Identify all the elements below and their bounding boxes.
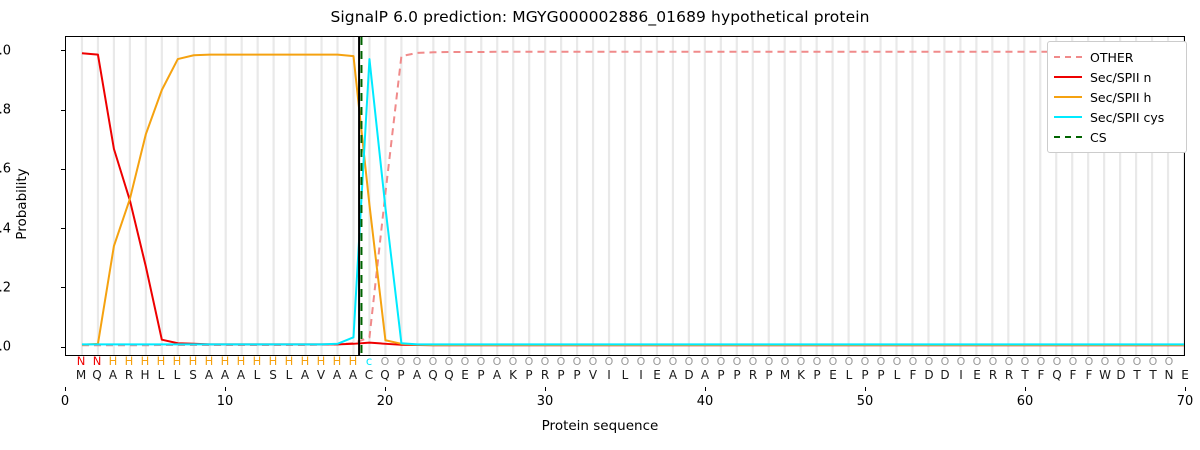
annotation-char: O [1069, 354, 1078, 369]
annotation-char: O [813, 354, 822, 369]
annotation-char: H [253, 354, 262, 369]
annotation-char: H [157, 354, 166, 369]
residue-char: D [1116, 368, 1125, 383]
residue-char: P [877, 368, 884, 383]
residue-char: Q [380, 368, 389, 383]
residue-char: S [189, 368, 197, 383]
plot-area [65, 36, 1185, 356]
y-tick-label: 0.0 [0, 340, 11, 355]
x-axis-label: Protein sequence [0, 418, 1200, 434]
annotation-char: O [653, 354, 662, 369]
residue-char: P [557, 368, 564, 383]
residue-char: F [1086, 368, 1093, 383]
x-tick-mark [385, 387, 386, 391]
annotation-char: O [1053, 354, 1062, 369]
legend-label: Sec/SPII h [1090, 90, 1151, 105]
x-tick-mark [65, 387, 66, 391]
residue-char: A [493, 368, 501, 383]
legend-item-cs[interactable]: CS [1054, 127, 1179, 147]
annotation-char: O [1085, 354, 1094, 369]
annotation-char: H [301, 354, 310, 369]
residue-char: R [125, 368, 133, 383]
legend-item-other[interactable]: OTHER [1054, 47, 1179, 67]
annotation-char: O [733, 354, 742, 369]
annotation-char: H [109, 354, 118, 369]
annotation-char: O [589, 354, 598, 369]
residue-char: E [1181, 368, 1189, 383]
y-axis-label: Probability [14, 84, 30, 324]
residue-char: E [973, 368, 981, 383]
annotation-char: O [397, 354, 406, 369]
residue-char: D [684, 368, 693, 383]
residue-char: A [701, 368, 709, 383]
annotation-char: O [845, 354, 854, 369]
residue-char: P [861, 368, 868, 383]
residue-char: A [205, 368, 213, 383]
annotation-char: O [621, 354, 630, 369]
x-tick-label: 10 [217, 394, 234, 409]
residue-char: R [541, 368, 549, 383]
annotation-char: O [461, 354, 470, 369]
annotation-char: H [205, 354, 214, 369]
plot-canvas [66, 37, 1184, 355]
residue-char: S [269, 368, 277, 383]
legend-label: CS [1090, 130, 1107, 145]
residue-char: A [333, 368, 341, 383]
annotation-char: O [445, 354, 454, 369]
annotation-char: O [685, 354, 694, 369]
annotation-char: O [637, 354, 646, 369]
annotation-char: H [125, 354, 134, 369]
annotation-char: N [93, 354, 102, 369]
residue-char: P [573, 368, 580, 383]
annotation-char: O [413, 354, 422, 369]
x-tick-label: 50 [857, 394, 874, 409]
residue-char: V [589, 368, 597, 383]
residue-char: C [365, 368, 373, 383]
legend-swatch-icon [1054, 51, 1082, 63]
annotation-char: O [893, 354, 902, 369]
annotation-char: O [941, 354, 950, 369]
legend: OTHERSec/SPII nSec/SPII hSec/SPII cysCS [1047, 41, 1187, 153]
residue-char: A [301, 368, 309, 383]
residue-char: E [461, 368, 469, 383]
residue-char: L [846, 368, 853, 383]
annotation-char: H [333, 354, 342, 369]
annotation-char: O [509, 354, 518, 369]
annotation-char: O [557, 354, 566, 369]
series-sec-spii-cys [82, 59, 1184, 344]
residue-char: P [813, 368, 820, 383]
residue-char: K [509, 368, 517, 383]
annotation-char: O [765, 354, 774, 369]
y-tick-mark [61, 228, 65, 229]
annotation-char: O [1117, 354, 1126, 369]
annotation-char: O [861, 354, 870, 369]
residue-char: A [349, 368, 357, 383]
x-tick-label: 60 [1017, 394, 1034, 409]
residue-char: L [174, 368, 181, 383]
annotation-char: O [781, 354, 790, 369]
annotation-char: O [973, 354, 982, 369]
annotation-char: O [381, 354, 390, 369]
page-title: SignalP 6.0 prediction: MGYG000002886_01… [0, 8, 1200, 26]
annotation-char: O [877, 354, 886, 369]
residue-char: L [286, 368, 293, 383]
sequence-row: MQARHLLSAAALSLAVAACQPAQQEPAKPRPPVILIEADA… [0, 368, 1200, 383]
residue-char: I [959, 368, 963, 383]
x-tick-mark [1185, 387, 1186, 391]
series-other [82, 52, 1184, 346]
annotation-char: H [221, 354, 230, 369]
annotation-char: O [989, 354, 998, 369]
residue-char: E [653, 368, 661, 383]
annotation-char: H [285, 354, 294, 369]
residue-char: M [780, 368, 790, 383]
residue-char: N [1165, 368, 1174, 383]
annotation-char: O [957, 354, 966, 369]
annotation-char: O [573, 354, 582, 369]
residue-char: A [413, 368, 421, 383]
x-tick-label: 30 [537, 394, 554, 409]
y-tick-mark [61, 110, 65, 111]
legend-item-sec-spii-cys[interactable]: Sec/SPII cys [1054, 107, 1179, 127]
residue-char: M [76, 368, 86, 383]
residue-char: A [237, 368, 245, 383]
annotation-char: O [909, 354, 918, 369]
residue-char: P [525, 368, 532, 383]
annotation-char: O [541, 354, 550, 369]
residue-char: I [607, 368, 611, 383]
annotation-char: O [829, 354, 838, 369]
y-tick-label: 0.6 [0, 162, 11, 177]
residue-char: Q [92, 368, 101, 383]
x-tick-mark [1025, 387, 1026, 391]
residue-char: H [140, 368, 149, 383]
y-tick-label: 0.2 [0, 280, 11, 295]
legend-item-sec-spii-h[interactable]: Sec/SPII h [1054, 87, 1179, 107]
annotation-char: H [237, 354, 246, 369]
annotation-char: O [1005, 354, 1014, 369]
residue-char: P [765, 368, 772, 383]
residue-char: P [397, 368, 404, 383]
residue-char: L [254, 368, 261, 383]
residue-char: T [1149, 368, 1156, 383]
annotation-char: O [1165, 354, 1174, 369]
legend-label: Sec/SPII n [1090, 70, 1151, 85]
legend-swatch-icon [1054, 71, 1082, 83]
grid-lines [82, 37, 1184, 355]
residue-char: E [829, 368, 837, 383]
y-tick-mark [61, 347, 65, 348]
x-tick-mark [545, 387, 546, 391]
annotation-char: O [701, 354, 710, 369]
residue-char: T [1133, 368, 1140, 383]
annotation-char: H [349, 354, 358, 369]
x-tick-label: 70 [1177, 394, 1194, 409]
annotation-char: O [925, 354, 934, 369]
y-tick-mark [61, 287, 65, 288]
annotation-char: O [525, 354, 534, 369]
annotation-char: O [429, 354, 438, 369]
legend-label: OTHER [1090, 50, 1133, 65]
residue-char: I [639, 368, 643, 383]
residue-char: P [477, 368, 484, 383]
annotation-char: O [1021, 354, 1030, 369]
residue-char: R [1005, 368, 1013, 383]
residue-char: L [894, 368, 901, 383]
series-sec-spii-n [82, 53, 1184, 345]
residue-char: P [717, 368, 724, 383]
x-tick-label: 40 [697, 394, 714, 409]
residue-char: K [797, 368, 805, 383]
residue-char: W [1099, 368, 1111, 383]
legend-item-sec-spii-n[interactable]: Sec/SPII n [1054, 67, 1179, 87]
y-tick-mark [61, 50, 65, 51]
residue-char: D [940, 368, 949, 383]
series-sec-spii-h [82, 55, 1184, 345]
legend-swatch-icon [1054, 131, 1082, 143]
x-tick-mark [865, 387, 866, 391]
annotation-char: N [77, 354, 86, 369]
legend-label: Sec/SPII cys [1090, 110, 1164, 125]
residue-char: F [910, 368, 917, 383]
x-tick-label: 0 [61, 394, 69, 409]
residue-char: V [317, 368, 325, 383]
residue-char: R [989, 368, 997, 383]
residue-char: P [733, 368, 740, 383]
residue-char: L [622, 368, 629, 383]
annotation-char: H [141, 354, 150, 369]
annotation-char: O [669, 354, 678, 369]
legend-swatch-icon [1054, 111, 1082, 123]
y-tick-label: 1.0 [0, 43, 11, 58]
residue-char: D [924, 368, 933, 383]
annotation-char: O [1133, 354, 1142, 369]
x-tick-mark [705, 387, 706, 391]
residue-char: T [1021, 368, 1028, 383]
annotation-char: O [477, 354, 486, 369]
residue-char: A [109, 368, 117, 383]
residue-char: A [669, 368, 677, 383]
annotation-char: O [749, 354, 758, 369]
x-tick-mark [225, 387, 226, 391]
annotation-row: NNHHHHHHHHHHHHHHHHcOOOOOOOOOOOOOOOOOOOOO… [0, 354, 1200, 369]
annotation-char: O [1149, 354, 1158, 369]
x-tick-label: 20 [377, 394, 394, 409]
residue-char: Q [428, 368, 437, 383]
residue-char: A [221, 368, 229, 383]
annotation-char: O [493, 354, 502, 369]
signalp-prediction-figure: SignalP 6.0 prediction: MGYG000002886_01… [0, 0, 1200, 450]
annotation-char: O [1037, 354, 1046, 369]
y-tick-mark [61, 169, 65, 170]
annotation-char: O [717, 354, 726, 369]
residue-char: L [158, 368, 165, 383]
legend-swatch-icon [1054, 91, 1082, 103]
annotation-char: H [173, 354, 182, 369]
annotation-char: c [366, 354, 372, 369]
annotation-char: H [317, 354, 326, 369]
y-tick-label: 0.4 [0, 221, 11, 236]
annotation-char: O [605, 354, 614, 369]
annotation-char: O [1101, 354, 1110, 369]
residue-char: R [749, 368, 757, 383]
residue-char: Q [1052, 368, 1061, 383]
residue-char: F [1038, 368, 1045, 383]
annotation-char: H [269, 354, 278, 369]
y-tick-label: 0.8 [0, 103, 11, 118]
residue-char: F [1070, 368, 1077, 383]
annotation-char: O [797, 354, 806, 369]
annotation-char: H [189, 354, 198, 369]
residue-char: Q [444, 368, 453, 383]
